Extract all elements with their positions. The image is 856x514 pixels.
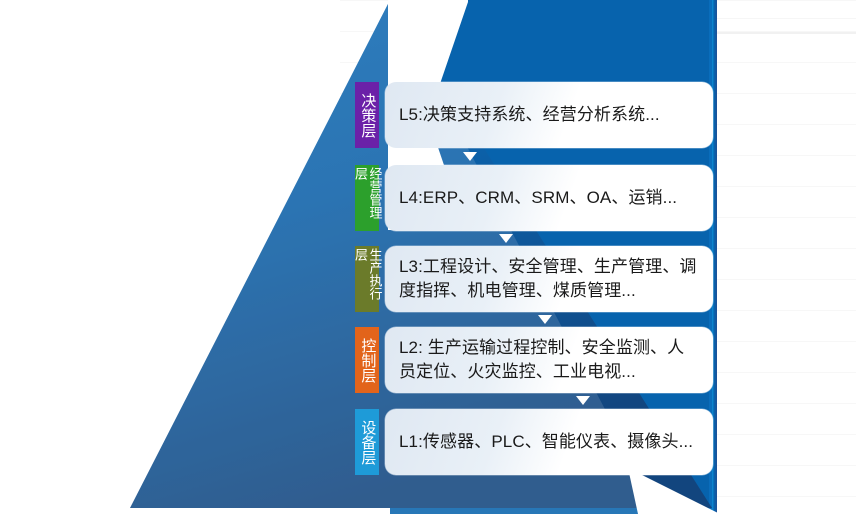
layer-tab-l2[interactable]: 控制层 [355, 327, 379, 393]
layer-tab-l4[interactable]: 经营管理层 [355, 165, 379, 231]
arrow-l5-to-l4-icon [463, 152, 477, 161]
layer-tab-l5[interactable]: 决策层 [355, 82, 379, 148]
layer-tab-l2-label: 控制层 [359, 338, 376, 383]
layer-tab-l1-label: 设备层 [359, 420, 376, 465]
layer-box-l3[interactable]: L3:工程设计、安全管理、生产管理、调度指挥、机电管理、煤质管理... [385, 246, 713, 312]
layer-box-l5-text: L5:决策支持系统、经营分析系统... [385, 103, 672, 127]
layer-tab-l5-label: 决策层 [359, 93, 376, 138]
layer-tab-l3[interactable]: 生产执行层 [355, 246, 379, 312]
slide-canvas: 决策层 L5:决策支持系统、经营分析系统... 经营管理层 L4:ERP、CRM… [0, 0, 856, 514]
layer-box-l1-text: L1:传感器、PLC、智能仪表、摄像头... [385, 430, 705, 454]
layer-box-l2[interactable]: L2: 生产运输过程控制、安全监测、人员定位、火灾监控、工业电视... [385, 327, 713, 393]
layer-box-l3-text: L3:工程设计、安全管理、生产管理、调度指挥、机电管理、煤质管理... [385, 255, 713, 303]
layer-box-l5[interactable]: L5:决策支持系统、经营分析系统... [385, 82, 713, 148]
layer-tab-l3-label: 生产执行层 [352, 248, 381, 310]
layer-tab-l4-label: 经营管理层 [352, 167, 381, 229]
arrow-l2-to-l1-icon [576, 396, 590, 405]
layer-box-l4[interactable]: L4:ERP、CRM、SRM、OA、运销... [385, 165, 713, 231]
layer-tab-l1[interactable]: 设备层 [355, 409, 379, 475]
arrow-l3-to-l2-icon [538, 315, 552, 324]
layer-box-l1[interactable]: L1:传感器、PLC、智能仪表、摄像头... [385, 409, 713, 475]
layer-box-l2-text: L2: 生产运输过程控制、安全监测、人员定位、火灾监控、工业电视... [385, 336, 713, 384]
arrow-l4-to-l3-icon [499, 234, 513, 243]
layer-box-l4-text: L4:ERP、CRM、SRM、OA、运销... [385, 186, 689, 210]
